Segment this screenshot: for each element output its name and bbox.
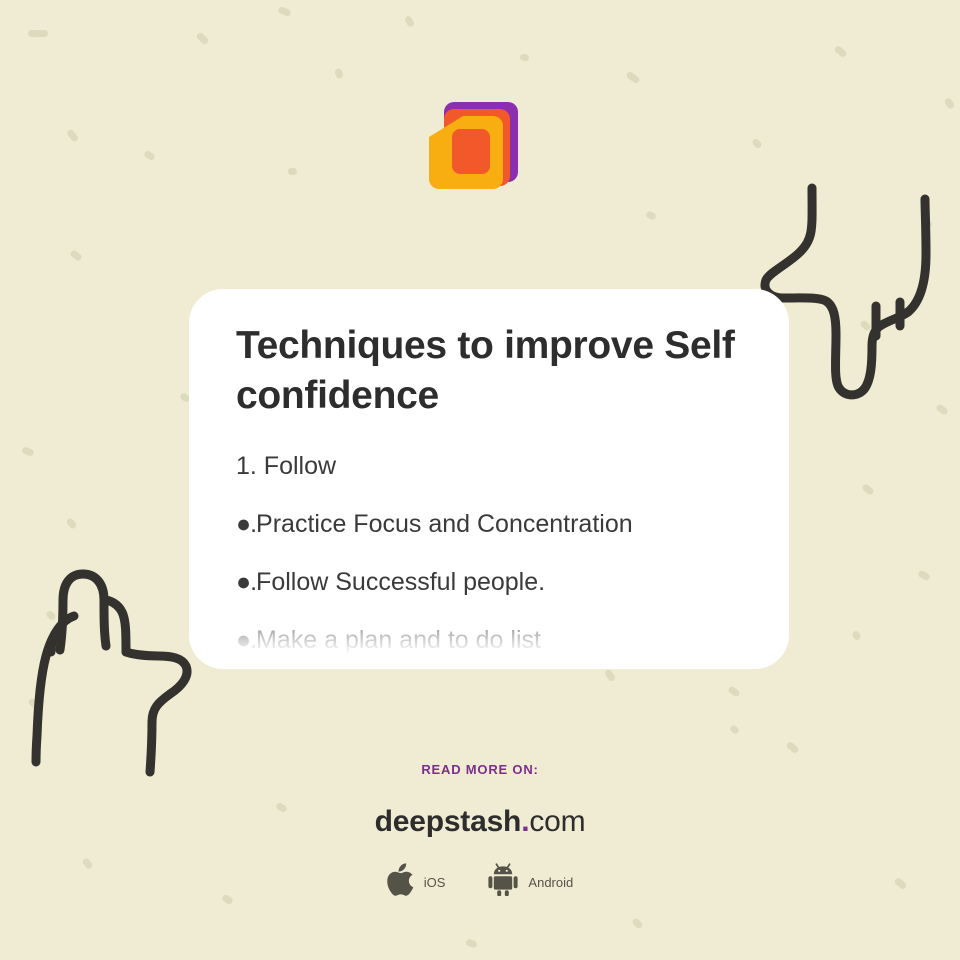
brand-tld: com xyxy=(529,805,585,838)
confetti-dash xyxy=(21,446,35,457)
confetti-dash xyxy=(921,218,933,229)
confetti-dash xyxy=(277,6,292,17)
confetti-dash xyxy=(604,669,617,683)
list-item-label: Make a plan and to do list xyxy=(256,626,541,654)
list-item: ●.Practice Focus and Concentration xyxy=(236,509,743,540)
content-card: Techniques to improve Self confidence 1.… xyxy=(189,289,789,669)
confetti-dash xyxy=(334,68,344,80)
confetti-dash xyxy=(465,938,478,948)
confetti-dash xyxy=(785,741,799,755)
pointing-hand-left-icon xyxy=(18,556,213,796)
list-item: 1. Follow xyxy=(236,451,743,482)
confetti-dash xyxy=(66,128,80,142)
confetti-dash xyxy=(751,137,763,149)
confetti-dash xyxy=(45,609,57,621)
deepstash-logo xyxy=(424,98,534,203)
page-title: Techniques to improve Self confidence xyxy=(236,321,743,421)
confetti-dash xyxy=(859,319,872,332)
store-badge-ios[interactable]: iOS xyxy=(387,863,446,901)
read-more-label: READ MORE ON: xyxy=(0,762,960,777)
confetti-dash xyxy=(729,724,740,735)
footer: READ MORE ON: deepstash.com iOS xyxy=(0,762,960,901)
confetti-dash xyxy=(27,697,40,710)
list-item: ●.Follow Successful people. xyxy=(236,567,743,598)
confetti-dash xyxy=(28,30,48,37)
confetti-dash xyxy=(519,53,530,62)
android-icon xyxy=(487,863,519,901)
store-badge-android-label: Android xyxy=(528,875,573,890)
store-badges: iOS xyxy=(0,863,960,901)
confetti-dash xyxy=(195,31,209,45)
confetti-dash xyxy=(631,917,644,930)
store-badge-android[interactable]: Android xyxy=(487,863,573,901)
list-item-faded: ●.Make a plan and to do list xyxy=(236,625,743,656)
confetti-dash xyxy=(288,168,297,175)
confetti-dash xyxy=(917,569,931,581)
idea-list: 1. Follow ●.Practice Focus and Concentra… xyxy=(236,451,743,656)
confetti-dash xyxy=(404,15,416,28)
brand-name: deepstash xyxy=(375,805,522,838)
confetti-dash xyxy=(69,249,83,262)
confetti-dash xyxy=(935,403,949,416)
confetti-dash xyxy=(727,685,741,698)
confetti-dash xyxy=(943,97,955,110)
confetti-dash xyxy=(625,71,640,85)
brand-wordmark[interactable]: deepstash.com xyxy=(0,805,960,839)
list-item-marker: ●. xyxy=(236,626,256,654)
confetti-dash xyxy=(645,210,657,221)
confetti-dash xyxy=(833,45,847,59)
poster-canvas: Techniques to improve Self confidence 1.… xyxy=(0,0,960,960)
confetti-dash xyxy=(861,483,875,496)
confetti-dash xyxy=(143,150,156,162)
list-item-label: 1. Follow xyxy=(236,452,336,480)
confetti-dash xyxy=(851,630,862,641)
list-item-marker: ●. xyxy=(236,510,256,538)
list-item-label: Practice Focus and Concentration xyxy=(256,510,633,538)
apple-icon xyxy=(387,863,415,901)
store-badge-ios-label: iOS xyxy=(424,875,446,890)
list-item-marker: ●. xyxy=(236,568,256,596)
confetti-dash xyxy=(65,517,77,530)
list-item-label: Follow Successful people. xyxy=(256,568,545,596)
